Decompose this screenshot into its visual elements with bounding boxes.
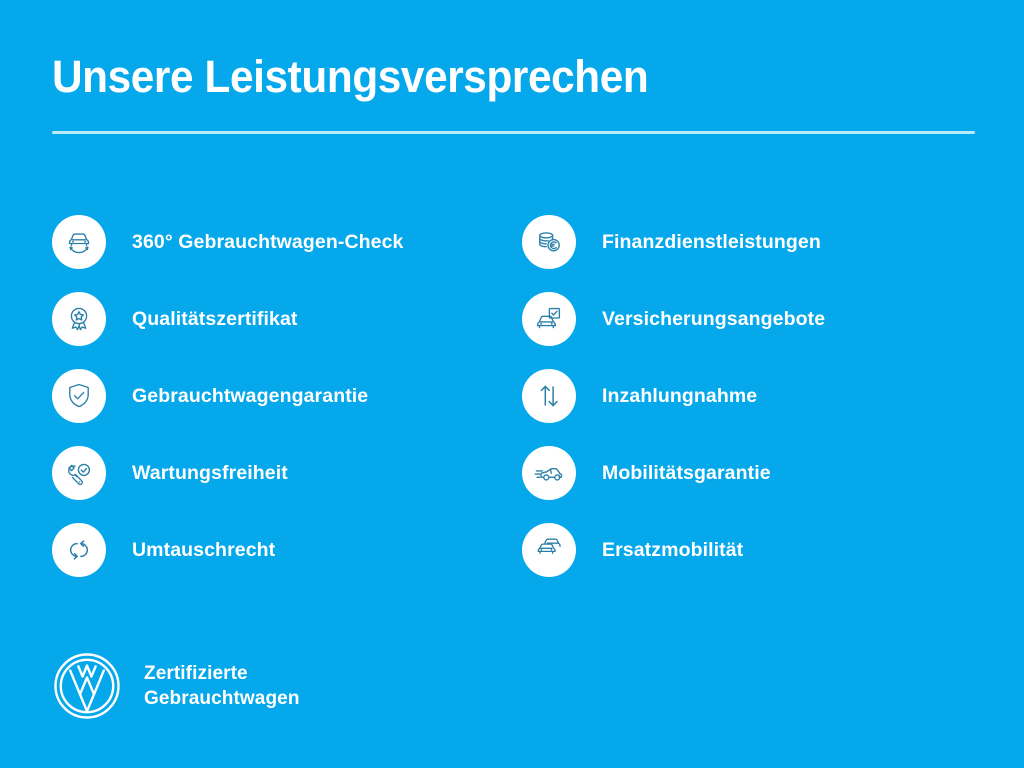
brand-lockup: Zertifizierte Gebrauchtwagen <box>52 651 300 721</box>
feature-label: Gebrauchtwagengarantie <box>132 384 368 408</box>
feature-label: Versicherungsangebote <box>602 307 825 331</box>
feature-item-versicherungsangebote: Versicherungsangebote <box>522 280 976 357</box>
feature-item-umtauschrecht: Umtauschrecht <box>52 511 522 588</box>
coins-euro-icon <box>522 215 576 269</box>
car-360-check-icon <box>52 215 106 269</box>
wrench-check-icon <box>52 446 106 500</box>
award-rosette-icon <box>52 292 106 346</box>
feature-item-inzahlungnahme: Inzahlungnahme <box>522 357 976 434</box>
feature-label: Wartungsfreiheit <box>132 461 288 485</box>
feature-label: Mobilitätsgarantie <box>602 461 771 485</box>
feature-item-gebrauchtwagengarantie: Gebrauchtwagengarantie <box>52 357 522 434</box>
car-document-check-icon <box>522 292 576 346</box>
page-title: Unsere Leistungsversprechen <box>52 50 921 104</box>
feature-label: 360° Gebrauchtwagen-Check <box>132 230 403 254</box>
slide-root: Unsere Leistungsversprechen <box>0 0 1024 768</box>
header: Unsere Leistungsversprechen <box>52 50 976 104</box>
title-divider <box>52 131 975 134</box>
feature-item-qualitaetszertifikat: Qualitätszertifikat <box>52 280 522 357</box>
feature-label: Qualitätszertifikat <box>132 307 298 331</box>
arrows-up-down-icon <box>522 369 576 423</box>
brand-text: Zertifizierte Gebrauchtwagen <box>144 661 300 711</box>
feature-label: Finanzdienstleistungen <box>602 230 821 254</box>
feature-item-finanzdienstleistungen: Finanzdienstleistungen <box>522 203 976 280</box>
feature-item-mobilitaetsgarantie: Mobilitätsgarantie <box>522 434 976 511</box>
feature-item-wartungsfreiheit: Wartungsfreiheit <box>52 434 522 511</box>
exchange-arrows-icon <box>52 523 106 577</box>
feature-label: Inzahlungnahme <box>602 384 757 408</box>
feature-grid: 360° Gebrauchtwagen-Check Finanzdienstle… <box>52 203 976 588</box>
brand-text-line2: Gebrauchtwagen <box>144 686 300 711</box>
feature-label: Ersatzmobilität <box>602 538 743 562</box>
feature-label: Umtauschrecht <box>132 538 275 562</box>
car-motion-icon <box>522 446 576 500</box>
feature-item-gebrauchtwagen-check: 360° Gebrauchtwagen-Check <box>52 203 522 280</box>
feature-item-ersatzmobilitaet: Ersatzmobilität <box>522 511 976 588</box>
brand-text-line1: Zertifizierte <box>144 661 300 686</box>
volkswagen-logo <box>52 651 122 721</box>
two-cars-icon <box>522 523 576 577</box>
shield-check-icon <box>52 369 106 423</box>
